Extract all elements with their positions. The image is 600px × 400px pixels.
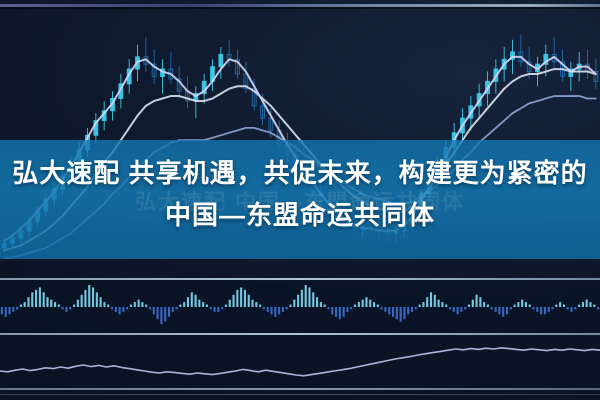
banner-headline: 弘大速配 共享机遇，共促未来，构建更为紧密的 中国—东盟命运共同体 <box>0 152 600 236</box>
macd-chart-svg <box>0 281 600 333</box>
panel-divider-footer <box>0 394 600 395</box>
panel-divider-middle <box>0 333 600 335</box>
indicator-chart-svg <box>0 336 600 388</box>
panel-divider-bottom <box>0 388 600 390</box>
indicator-line-panel <box>0 336 600 388</box>
macd-histogram-panel <box>0 281 600 333</box>
chart-banner-stage: 弘大速配 中国—东盟命运共同体 弘大速配 共享机遇，共促未来，构建更为紧密的 中… <box>0 0 600 400</box>
panel-divider-top <box>0 278 600 280</box>
